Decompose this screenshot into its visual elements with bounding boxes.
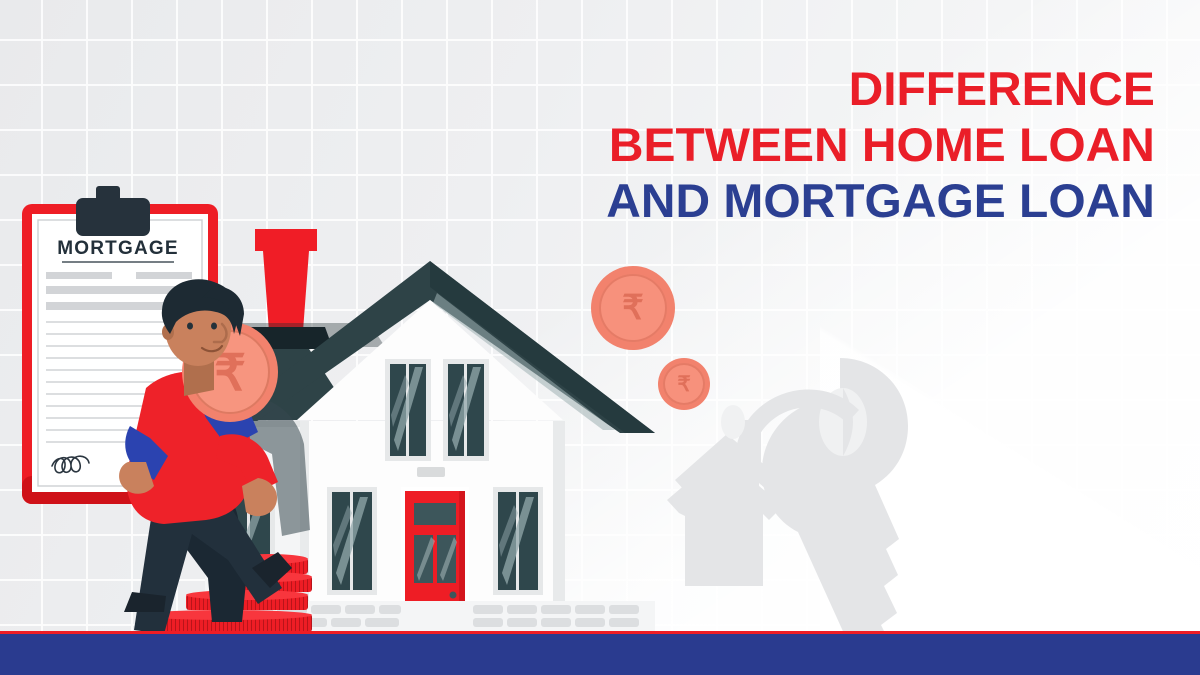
rupee-symbol: ₹ <box>677 372 690 397</box>
headline-line-2: BETWEEN HOME LOAN <box>606 122 1155 168</box>
window-upper-left <box>385 359 431 461</box>
headline-line-1: DIFFERENCE <box>606 66 1155 112</box>
banner-stage: DIFFERENCE BETWEEN HOME LOAN AND MORTGAG… <box>0 0 1200 675</box>
rupee-coin-small-icon: ₹ <box>658 358 710 410</box>
person-illustration: ₹ <box>110 276 345 636</box>
clipboard-clip <box>76 186 150 236</box>
door-vent <box>417 467 445 477</box>
headline-line-3: AND MORTGAGE LOAN <box>606 178 1155 224</box>
window-upper-right <box>443 359 489 461</box>
bottom-navy-bar <box>0 634 1200 675</box>
headline-block: DIFFERENCE BETWEEN HOME LOAN AND MORTGAG… <box>617 66 1155 234</box>
window-lower-right <box>493 487 543 595</box>
coin-inner: ₹ <box>663 363 705 405</box>
person-eye-left <box>187 323 193 330</box>
mortgage-document-title: MORTGAGE <box>57 238 179 259</box>
person-eye-right <box>211 323 217 330</box>
